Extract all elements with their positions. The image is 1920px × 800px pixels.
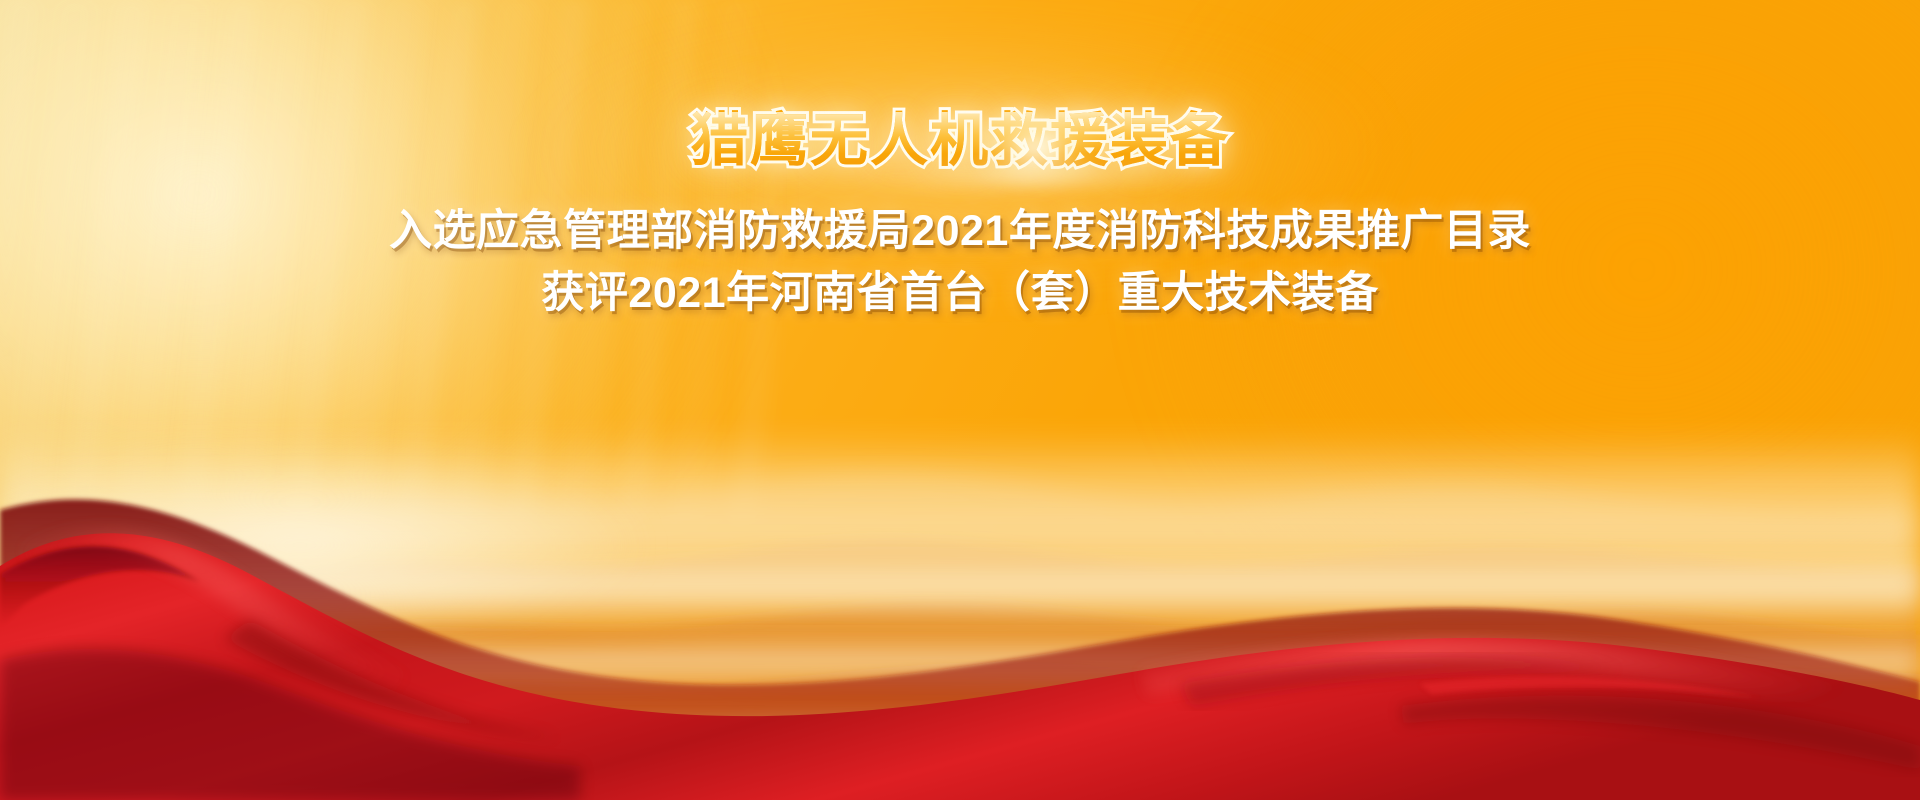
subtitle-line-1: 入选应急管理部消防救援局2021年度消防科技成果推广目录 bbox=[0, 210, 1920, 253]
red-silk-ribbon-wave bbox=[0, 470, 1920, 800]
subtitle-line-2: 获评2021年河南省首台（套）重大技术装备 bbox=[0, 272, 1920, 315]
page-title: 猎鹰无人机救援装备 bbox=[0, 112, 1920, 170]
promo-banner: 猎鹰无人机救援装备 猎鹰无人机救援装备 入选应急管理部消防救援局2021年度消防… bbox=[0, 0, 1920, 800]
